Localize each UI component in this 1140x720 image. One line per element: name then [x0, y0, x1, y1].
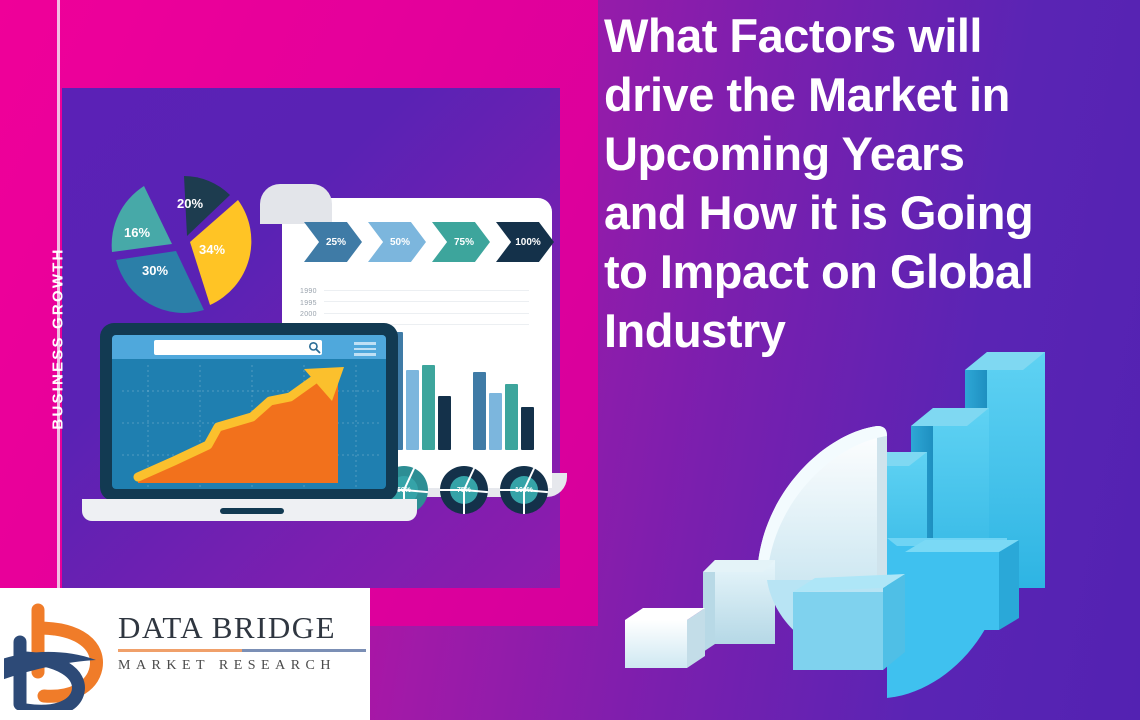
pie-chart: 20% 34% 30% 16%: [102, 170, 267, 315]
bar-group-2: [473, 372, 534, 450]
hamburger-menu-icon[interactable]: [354, 342, 376, 359]
bar: [438, 396, 451, 450]
chevron-50: 50%: [368, 222, 426, 262]
grid-line: [324, 290, 529, 291]
page-title: What Factors will drive the Market in Up…: [604, 6, 1140, 360]
headline-line: and How it is Going: [604, 183, 1140, 242]
bar: [521, 407, 534, 450]
logo-wordmark: DATA BRIDGE MARKET RESEARCH: [118, 610, 366, 674]
flat-illustration: 20% 34% 30% 16% 25% 50% 75% 100% 1990 19…: [62, 88, 560, 588]
headline-line: drive the Market in: [604, 65, 1140, 124]
bar: [422, 365, 435, 450]
logo-line-1: DATA BRIDGE: [118, 610, 366, 646]
chevron-75: 75%: [432, 222, 490, 262]
chevron-100: 100%: [496, 222, 554, 262]
browser-bar: [112, 335, 386, 359]
grid-line: [324, 301, 529, 302]
laptop-hinge: [220, 508, 284, 514]
laptop-lid: [100, 323, 398, 501]
pie-label-34: 34%: [199, 242, 225, 257]
headline-line: What Factors will: [604, 6, 1140, 65]
bar: [473, 372, 486, 450]
card-tab: [260, 184, 332, 224]
year-label: 1995: [300, 298, 317, 310]
pie-label-30: 30%: [142, 263, 168, 278]
magnifier-icon[interactable]: [308, 341, 321, 354]
bar: [505, 384, 518, 450]
search-input[interactable]: [154, 340, 322, 355]
pie-label-16: 16%: [124, 225, 150, 240]
donut-75: 75%: [440, 466, 488, 514]
headline-line: to Impact on Global: [604, 242, 1140, 301]
chevron-25: 25%: [304, 222, 362, 262]
logo[interactable]: DATA BRIDGE MARKET RESEARCH: [0, 588, 370, 720]
data-bridge-mark-icon: [4, 598, 116, 710]
headline-line: Upcoming Years: [604, 124, 1140, 183]
line-chart: [122, 365, 382, 487]
laptop-illustration: [82, 323, 417, 538]
bar: [489, 393, 502, 450]
chevron-progress: 25% 50% 75% 100%: [304, 222, 554, 262]
pie-label-20: 20%: [177, 196, 203, 211]
laptop-screen: [112, 335, 386, 489]
donut-100: 100%: [500, 466, 548, 514]
logo-line-2: MARKET RESEARCH: [118, 658, 366, 674]
3d-chart-render: [615, 330, 1045, 720]
promo-banner: BUSINESS GROWTH 20% 34% 30% 16% 25%: [0, 0, 1140, 720]
year-label: 2000: [300, 309, 317, 321]
logo-underline: [118, 649, 366, 652]
year-label: 1990: [300, 286, 317, 298]
